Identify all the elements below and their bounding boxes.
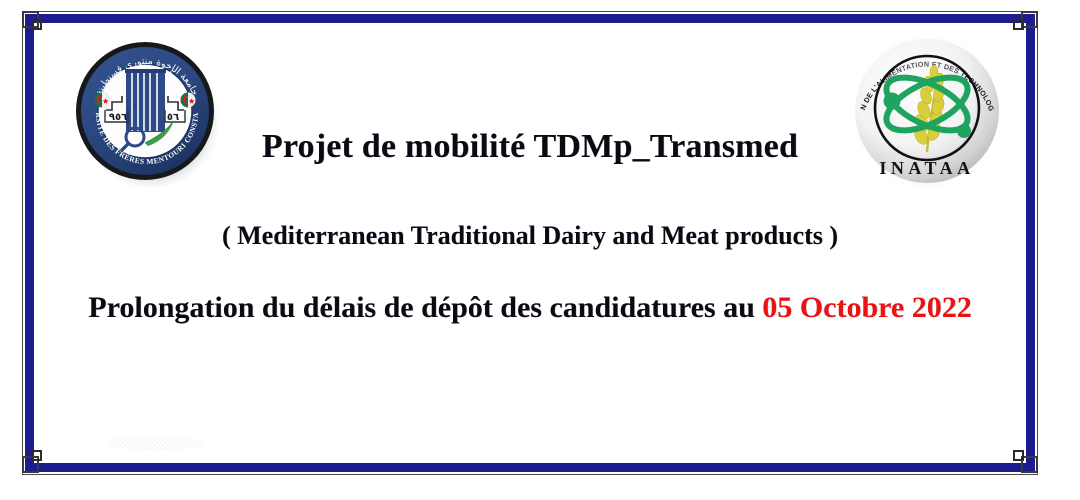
- svg-text:٥٦: ٥٦: [167, 112, 179, 123]
- selection-handle-top-left-inner[interactable]: [31, 19, 42, 30]
- universite-freres-mentouri-constantine-logo: جامعة الإخوة منتوري قسنطينة UNIVERSITE D…: [72, 38, 222, 190]
- svg-text:INATAA: INATAA: [879, 158, 974, 178]
- selection-handle-bottom-left-inner[interactable]: [31, 450, 42, 461]
- svg-text:٩٥٦: ٩٥٦: [109, 112, 127, 123]
- selection-handle-bottom-right-inner[interactable]: [1013, 450, 1024, 461]
- selection-handle-top-right-inner[interactable]: [1013, 19, 1024, 30]
- spreadsheet-canvas: جامعة الإخوة منتوري قسنطينة UNIVERSITE D…: [0, 0, 1080, 500]
- inataa-logo: INSTITUT DE LA NUTRITION DE L'ALIMENTATI…: [851, 28, 1003, 194]
